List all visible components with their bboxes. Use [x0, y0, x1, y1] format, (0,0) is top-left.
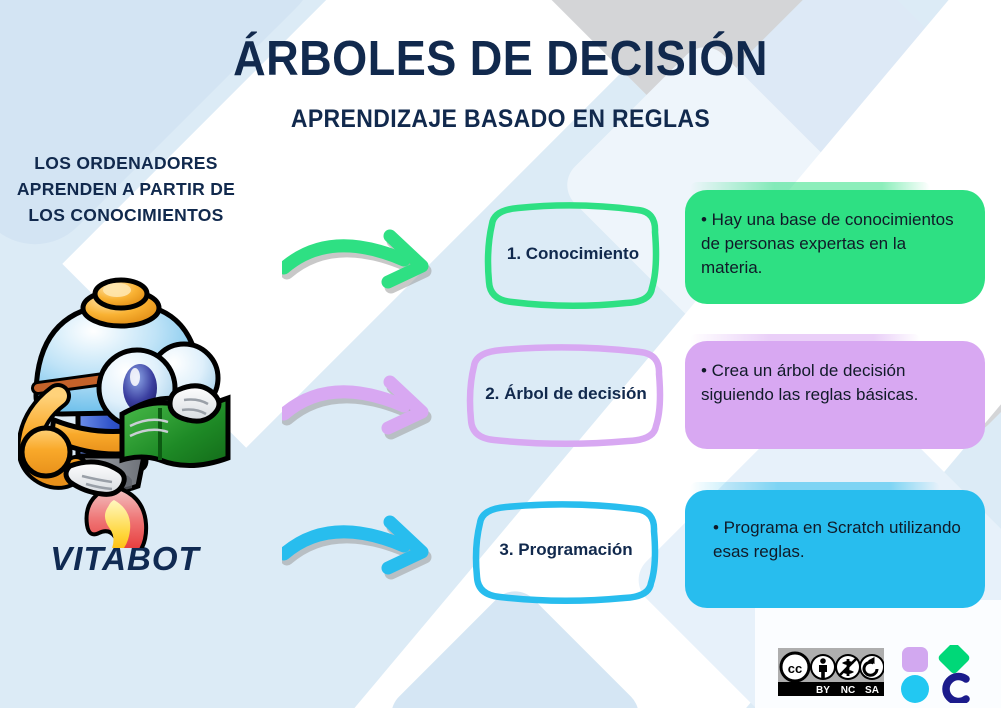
curved-arrow-right-icon-1 — [282, 222, 462, 300]
intro-lead-text: LOS ORDENADORES APRENDEN A PARTIR DE LOS… — [6, 150, 246, 228]
logo-green-diamond — [937, 645, 971, 675]
step-detail-panel-3: • Programa en Scratch utilizando esas re… — [685, 490, 985, 608]
brand-logo-icon[interactable] — [900, 645, 986, 703]
logo-letter-c — [946, 677, 966, 702]
curved-arrow-right-icon-2 — [282, 368, 462, 446]
step-label-2: 2. Árbol de decisión — [460, 384, 672, 404]
step-label-1: 1. Conocimiento — [478, 244, 668, 264]
page-title: ÁRBOLES DE DECISIÓN — [40, 31, 961, 87]
curved-arrow-right-icon-3 — [282, 508, 462, 586]
logo-cyan-circle — [901, 675, 929, 703]
page-subtitle: APRENDIZAJE BASADO EN REGLAS — [40, 105, 961, 134]
step-label-3: 3. Programación — [466, 540, 666, 560]
logo-purple-square — [902, 647, 928, 672]
step-detail-panel-2: • Crea un árbol de decisión siguiendo la… — [685, 341, 985, 449]
svg-text:cc: cc — [788, 661, 802, 676]
svg-text:SA: SA — [865, 685, 879, 696]
creative-commons-badge-icon[interactable]: cc BY NC SA — [778, 648, 884, 696]
svg-text:NC: NC — [841, 685, 855, 696]
svg-text:BY: BY — [816, 685, 830, 696]
infographic-canvas: ÁRBOLES DE DECISIÓN APRENDIZAJE BASADO E… — [0, 0, 1001, 708]
step-detail-panel-1: • Hay una base de conocimientos de perso… — [685, 190, 985, 304]
vitabot-robot-reading-icon — [18, 248, 243, 548]
